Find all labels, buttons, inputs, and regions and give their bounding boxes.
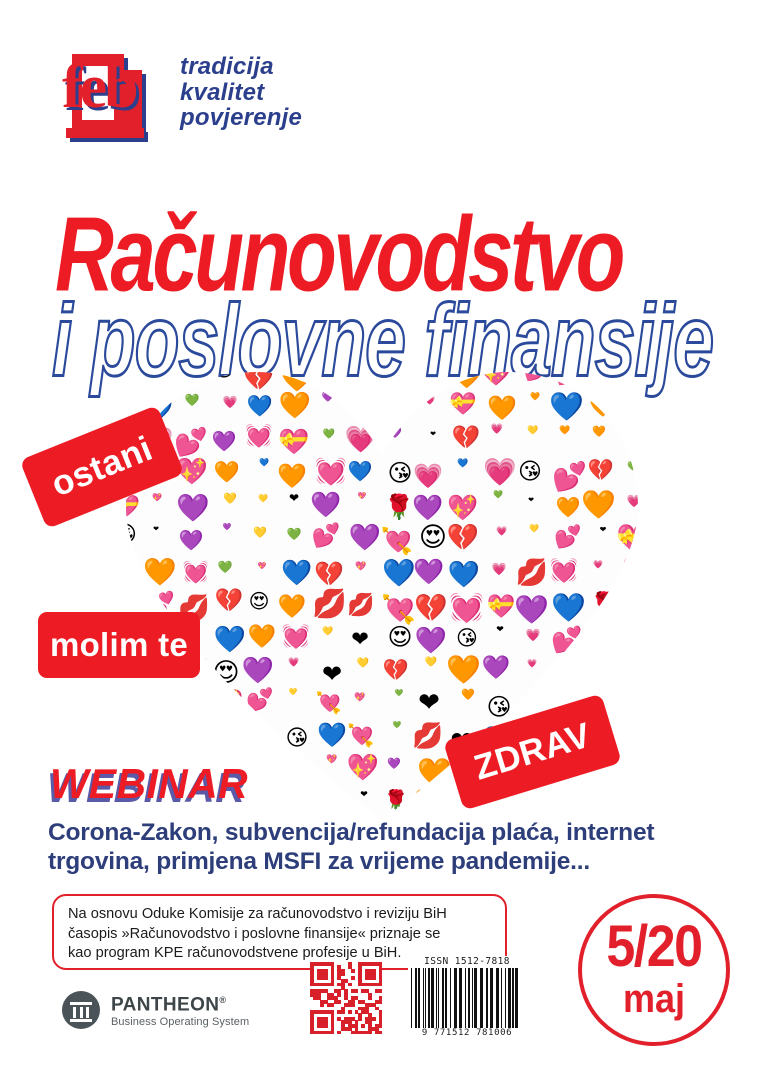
issue-number: 5/20 <box>606 919 701 975</box>
sticker-molim-te[interactable]: molim te <box>38 612 200 678</box>
feb-logo-icon: feb <box>62 48 154 146</box>
tagline-line-1: tradicija <box>180 54 302 80</box>
sponsor-name: PANTHEON® <box>111 990 249 1015</box>
qr-code-icon[interactable] <box>310 962 382 1034</box>
barcode-block: ISSN 1512-7818 9 771512 781006 <box>408 956 526 1044</box>
magazine-cover: feb tradicija kvalitet povjerenje Računo… <box>0 0 768 1086</box>
barcode-digits: 9 771512 781006 <box>408 1028 526 1039</box>
sponsor-tagline: Business Operating System <box>111 1015 249 1029</box>
issn-label: ISSN 1512-7818 <box>408 956 526 967</box>
issue-month: maj <box>623 978 685 1020</box>
tagline-line-3: povjerenje <box>180 105 302 131</box>
sticker-molim-te-label: molim te <box>50 626 188 664</box>
trademark-symbol: ® <box>219 995 226 1005</box>
webinar-description: Corona-Zakon, subvencija/refundacija pla… <box>48 818 738 876</box>
sponsor-name-text: PANTHEON <box>111 994 219 1015</box>
notice-line-1: Na osnovu Oduke Komisije za računovodstv… <box>68 905 493 925</box>
magazine-title: Računovodstvo i poslovne finansije <box>0 196 768 366</box>
masthead: feb tradicija kvalitet povjerenje <box>62 48 302 146</box>
webinar-heading: WEBINAR <box>50 762 248 806</box>
feb-logo-text: feb <box>62 56 154 118</box>
barcode-icon <box>411 968 523 1028</box>
publisher-tagline: tradicija kvalitet povjerenje <box>180 48 302 131</box>
tagline-line-2: kvalitet <box>180 80 302 106</box>
notice-line-2: časopis »Računovodstvo i poslovne finans… <box>68 925 493 945</box>
pantheon-column-icon <box>62 991 100 1029</box>
issue-badge: 5/20 maj <box>578 894 730 1046</box>
sponsor-pantheon[interactable]: PANTHEON® Business Operating System <box>62 990 249 1029</box>
